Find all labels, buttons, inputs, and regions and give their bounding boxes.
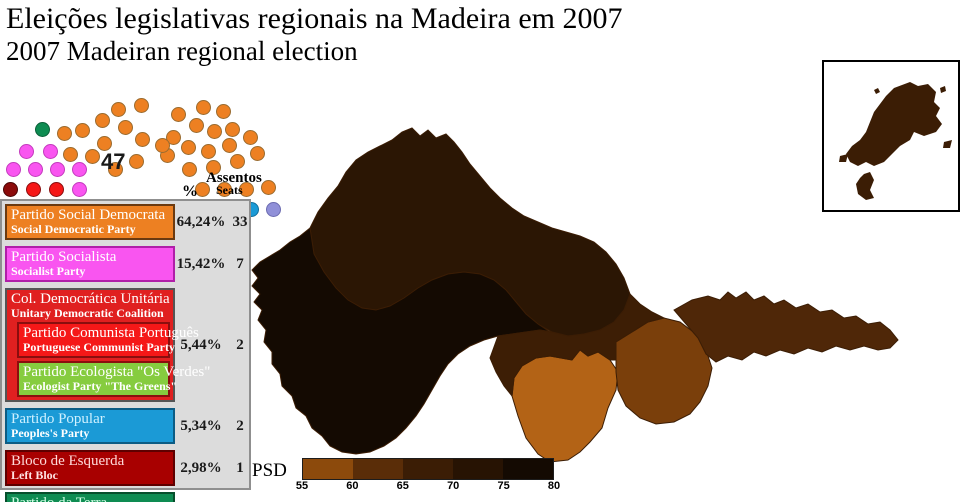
legend-swatch: [303, 459, 353, 479]
parliament-seat: [135, 132, 150, 147]
party-name-en: Ecologist Party "The Greens": [23, 380, 165, 393]
porto-santo-inset-map: [822, 60, 960, 212]
party-percent: 5,34%: [175, 418, 227, 435]
parliament-seat: [28, 162, 43, 177]
party-name-en: Peoples's Party: [11, 427, 170, 440]
parliament-seat: [171, 107, 186, 122]
legend-swatch: [453, 459, 503, 479]
party-color-box: Partido Popular Peoples's Party: [5, 408, 175, 444]
parliament-seat: [63, 147, 78, 162]
parliament-seat: [19, 144, 34, 159]
map-islet-east: [943, 140, 952, 148]
map-region-machico: [674, 292, 898, 362]
parliament-seat: [26, 182, 41, 197]
party-name-en: Social Democratic Party: [11, 223, 170, 236]
party-name-pt: Col. Democrática Unitária: [11, 291, 170, 307]
legend-swatch: [503, 459, 553, 479]
parliament-seat: [216, 104, 231, 119]
parliament-seat: [35, 122, 50, 137]
parliament-seat: [225, 122, 240, 137]
parliament-seat: [189, 118, 204, 133]
party-color-box: Partido Socialista Socialist Party: [5, 246, 175, 282]
parliament-seat: [181, 140, 196, 155]
parliament-seat: [50, 162, 65, 177]
map-islet-north: [874, 88, 880, 94]
party-name-pt: Partido Popular: [11, 411, 170, 427]
map-islet-west: [839, 154, 848, 162]
parliament-seat: [230, 154, 245, 169]
results-table: Partido Social Democrata Social Democrat…: [0, 199, 251, 490]
map-region-funchal: [512, 350, 618, 462]
party-percent: 15,42%: [175, 256, 227, 273]
table-row: Partido Popular Peoples's Party 5,34% 2: [2, 405, 249, 447]
party-percent: 64,24%: [175, 214, 227, 231]
table-row: Bloco de Esquerda Left Bloc 2,98% 1: [2, 447, 249, 489]
party-name-en: Portuguese Communist Party: [23, 341, 165, 354]
legend-label: PSD: [252, 460, 287, 482]
map-islet-south: [856, 172, 874, 200]
election-infographic: Eleições legislativas regionais na Madei…: [0, 0, 960, 502]
parliament-seat: [6, 162, 21, 177]
table-row: Partido da Terra Earth Party 2,26% 1: [2, 489, 249, 502]
parliament-seat-diagram: [0, 82, 280, 178]
legend-swatch: [353, 459, 403, 479]
page-title-pt: Eleições legislativas regionais na Madei…: [6, 2, 826, 36]
parliament-seat: [57, 126, 72, 141]
parliament-seat: [207, 124, 222, 139]
table-row: Partido Socialista Socialist Party 15,42…: [2, 243, 249, 285]
party-name-pt: Bloco de Esquerda: [11, 453, 170, 469]
party-color-box-pcp: Partido Comunista Português Portuguese C…: [17, 322, 170, 358]
parliament-seat: [95, 113, 110, 128]
legend-tick: 65: [397, 480, 409, 492]
party-color-box: Partido da Terra Earth Party: [5, 492, 175, 502]
table-row-coalition: Col. Democrática Unitária Unitary Democr…: [2, 285, 249, 405]
party-color-box-cdu: Col. Democrática Unitária Unitary Democr…: [5, 288, 175, 402]
title-block: Eleições legislativas regionais na Madei…: [6, 2, 826, 66]
legend-gradient-bar: [302, 458, 554, 480]
party-name-pt: Partido da Terra: [11, 495, 170, 502]
parliament-seat: [222, 138, 237, 153]
legend-tick: 75: [497, 480, 509, 492]
party-name-pt: Partido Comunista Português: [23, 325, 165, 341]
total-seats-label: 47: [101, 149, 125, 175]
legend-tick: 55: [296, 480, 308, 492]
party-name-en: Left Bloc: [11, 469, 170, 482]
inset-map-svg: [824, 62, 958, 210]
parliament-seat: [85, 149, 100, 164]
party-name-pt: Partido Socialista: [11, 249, 170, 265]
parliament-seat: [201, 144, 216, 159]
party-color-box-pev: Partido Ecologista "Os Verdes" Ecologist…: [17, 361, 170, 397]
map-region-porto-santo: [846, 82, 942, 166]
legend-tick: 60: [346, 480, 358, 492]
parliament-seat: [111, 102, 126, 117]
parliament-seat: [49, 182, 64, 197]
party-color-box: Bloco de Esquerda Left Bloc: [5, 450, 175, 486]
party-color-box: Partido Social Democrata Social Democrat…: [5, 204, 175, 240]
legend-tick-labels: 556065707580: [302, 480, 556, 494]
party-percent: 2,98%: [175, 460, 227, 477]
parliament-seat: [118, 120, 133, 135]
party-name-en: Unitary Democratic Coalition: [11, 307, 170, 320]
table-row: Partido Social Democrata Social Democrat…: [2, 201, 249, 243]
parliament-seat: [196, 100, 211, 115]
column-header-seats-en: Seats: [216, 183, 243, 198]
parliament-seat: [3, 182, 18, 197]
party-name-pt: Partido Social Democrata: [11, 207, 170, 223]
parliament-seat: [155, 138, 170, 153]
legend-tick: 80: [548, 480, 560, 492]
parliament-seat: [72, 182, 87, 197]
legend-tick: 70: [447, 480, 459, 492]
parliament-seat: [72, 162, 87, 177]
parliament-seat: [182, 162, 197, 177]
party-percent: 5,44%: [175, 337, 227, 354]
parliament-seat: [134, 98, 149, 113]
party-name-pt: Partido Ecologista "Os Verdes": [23, 364, 165, 380]
coalition-stack: Col. Democrática Unitária Unitary Democr…: [5, 288, 175, 402]
parliament-seat: [43, 144, 58, 159]
party-name-en: Socialist Party: [11, 265, 170, 278]
legend-swatch: [403, 459, 453, 479]
parliament-seat: [75, 123, 90, 138]
parliament-seat: [129, 154, 144, 169]
map-islet-northeast: [940, 86, 946, 93]
